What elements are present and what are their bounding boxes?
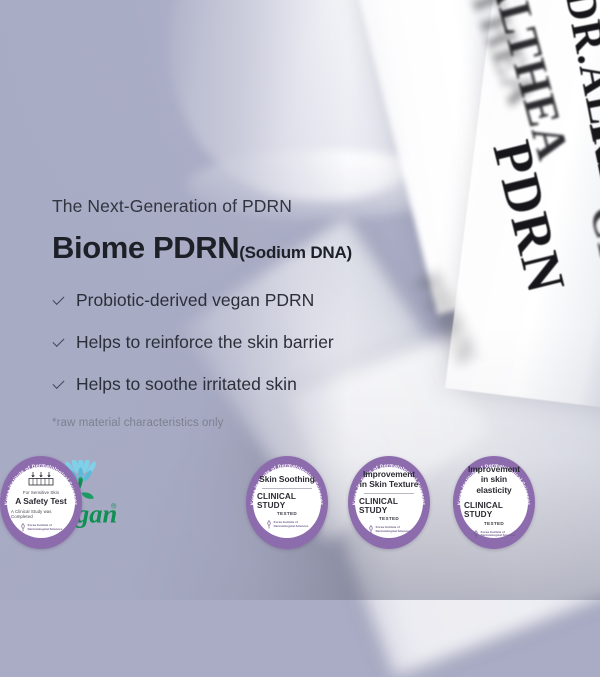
headline-main: Biome PDRN [52, 230, 239, 266]
benefit-text: Helps to soothe irritated skin [76, 374, 297, 395]
certification-row: egan ® Korea Institute of Dermatological… [0, 454, 600, 550]
institute-logo: Korea Institute of Dermatological Scienc… [20, 523, 63, 532]
institute-mark-icon [473, 530, 479, 539]
seal-clinical-label: A Clinical Study was Completed [11, 509, 71, 519]
seal-inner: Improvementin skin elasticity CLINICAL S… [460, 467, 528, 538]
institute-line-2: Dermatological Sciences [376, 530, 411, 533]
seal-title: Skin Soothing [259, 474, 315, 484]
patch-test-icon [26, 471, 56, 488]
seal-clinical-label: CLINICAL STUDY [464, 501, 524, 519]
seal-inner: Skin Soothing CLINICAL STUDY TESTED Kore… [253, 467, 321, 538]
institute-mark-icon [20, 523, 26, 532]
institute-logo: Korea Institute of Dermatological Scienc… [266, 520, 309, 529]
seal-pretitle: For Sensitive Skin [23, 490, 59, 495]
check-icon [52, 294, 65, 307]
institute-name: Korea Institute of Dermatological Scienc… [376, 526, 411, 533]
seal-tested-label: TESTED [484, 521, 504, 526]
seal-divider [364, 493, 414, 494]
seal-tested-label: TESTED [379, 516, 399, 521]
benefit-list: Probiotic-derived vegan PDRN Helps to re… [52, 290, 472, 395]
benefit-text: Helps to reinforce the skin barrier [76, 332, 334, 353]
institute-mark-icon [266, 520, 272, 529]
list-item: Helps to reinforce the skin barrier [52, 332, 472, 353]
institute-logo: Korea Institute of Dermatological Scienc… [473, 530, 516, 539]
certification-seal: Korea Institute of Dermatological Scienc… [0, 456, 82, 549]
certification-seal: Korea Institute of Dermatological Scienc… [246, 456, 328, 549]
institute-logo: Korea Institute of Dermatological Scienc… [368, 525, 411, 534]
seal-title: Improvementin skin elasticity [464, 464, 524, 495]
institute-line-2: Dermatological Sciences [481, 534, 516, 537]
institute-mark-icon [368, 525, 374, 534]
seal-title: A Safety Test [15, 496, 66, 506]
headline-subtitle: (Sodium DNA) [239, 243, 352, 263]
seal-tested-label: TESTED [277, 511, 297, 516]
eyebrow-text: The Next-Generation of PDRN [52, 196, 472, 217]
certification-seal: Korea Institute of Dermatological Scienc… [348, 456, 430, 549]
seal-title: Improvementin Skin Texture [360, 469, 419, 490]
page-title: Biome PDRN (Sodium DNA) [52, 230, 472, 266]
seal-divider [262, 488, 312, 489]
list-item: Probiotic-derived vegan PDRN [52, 290, 472, 311]
seal-clinical-label: CLINICAL STUDY [359, 497, 419, 515]
institute-line-2: Dermatological Sciences [274, 525, 309, 528]
seal-inner: Improvementin Skin Texture CLINICAL STUD… [355, 467, 423, 538]
copy-block: The Next-Generation of PDRN Biome PDRN (… [52, 196, 472, 429]
institute-name: Korea Institute of Dermatological Scienc… [274, 521, 309, 528]
footnote-text: *raw material characteristics only [52, 417, 472, 429]
check-icon [52, 336, 65, 349]
institute-line-2: Dermatological Sciences [28, 528, 63, 531]
benefit-text: Probiotic-derived vegan PDRN [76, 290, 314, 311]
list-item: Helps to soothe irritated skin [52, 374, 472, 395]
check-icon [52, 378, 65, 391]
institute-name: Korea Institute of Dermatological Scienc… [481, 531, 516, 538]
certification-seal: Korea Institute of Dermatological Scienc… [453, 456, 535, 549]
svg-text:®: ® [111, 502, 117, 510]
institute-name: Korea Institute of Dermatological Scienc… [28, 524, 63, 531]
seal-inner: For Sensitive Skin A Safety Test A Clini… [7, 467, 75, 538]
seal-clinical-label: CLINICAL STUDY [257, 492, 317, 510]
